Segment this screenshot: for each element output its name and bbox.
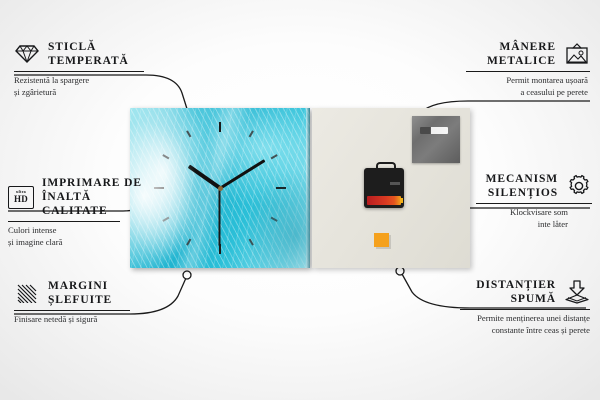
feature-head: MÂNEREMETALICE bbox=[440, 40, 590, 68]
feature-tempered-glass: STICLĂTEMPERATĂ Rezistentă la spargereși… bbox=[14, 40, 154, 98]
feature-title: MECANISMSILENȚIOS bbox=[486, 172, 558, 200]
feature-subtitle: Culori intenseși imagine clară bbox=[8, 225, 160, 248]
feature-subtitle: Rezistentă la spargereși zgârietură bbox=[14, 75, 154, 98]
feature-head: STICLĂTEMPERATĂ bbox=[14, 40, 154, 68]
feature-head: ultraHD IMPRIMARE DEÎNALTĂ CALITATE bbox=[8, 176, 160, 218]
hand-cap bbox=[218, 186, 223, 191]
feature-rule bbox=[466, 71, 590, 72]
feature-head: MARGINIȘLEFUITE bbox=[14, 279, 156, 307]
battery bbox=[367, 196, 401, 205]
connector-dot-spacer bbox=[396, 267, 404, 275]
feature-subtitle: Permite menținerea unei distanțeconstant… bbox=[434, 313, 590, 336]
feature-rule bbox=[14, 71, 144, 72]
feature-head: DISTANȚIERSPUMĂ bbox=[434, 278, 590, 306]
feature-title: IMPRIMARE DEÎNALTĂ CALITATE bbox=[42, 176, 160, 218]
feature-title: MARGINIȘLEFUITE bbox=[48, 279, 112, 307]
infographic-canvas: STICLĂTEMPERATĂ Rezistentă la spargereși… bbox=[0, 0, 600, 400]
feature-head: MECANISMSILENȚIOS bbox=[450, 172, 592, 200]
feature-rule bbox=[476, 203, 592, 204]
metal-hanger-plate bbox=[412, 116, 460, 163]
picture-hanger-icon bbox=[564, 42, 590, 66]
feature-subtitle: Permit montarea ușoarăa ceasului pe pere… bbox=[440, 75, 590, 98]
feature-high-quality-print: ultraHD IMPRIMARE DEÎNALTĂ CALITATE Culo… bbox=[8, 176, 160, 248]
press-pad-icon bbox=[564, 280, 590, 304]
gear-icon bbox=[566, 174, 592, 198]
feature-rule bbox=[460, 309, 590, 310]
feature-subtitle: Finisare netedă și sigură bbox=[14, 314, 156, 326]
feature-subtitle: Klockvisare sominte låter bbox=[450, 207, 592, 230]
foam-spacer-pad bbox=[374, 233, 389, 247]
quartz-movement bbox=[364, 168, 404, 208]
second-hand bbox=[219, 188, 221, 246]
feature-silent-mechanism: MECANISMSILENȚIOS Klockvisare sominte lå… bbox=[450, 172, 592, 230]
hatched-edge-icon bbox=[14, 281, 40, 305]
feature-title: DISTANȚIERSPUMĂ bbox=[476, 278, 556, 306]
movement-label bbox=[390, 182, 400, 185]
feature-polished-edges: MARGINIȘLEFUITE Finisare netedă și sigur… bbox=[14, 279, 156, 326]
hanger-slot bbox=[420, 127, 448, 134]
clock-back-panel bbox=[312, 108, 470, 268]
feature-metal-handles: MÂNEREMETALICE Permit montarea ușoarăa c… bbox=[440, 40, 590, 98]
feature-foam-spacer: DISTANȚIERSPUMĂ Permite menținerea unei … bbox=[434, 278, 590, 336]
glass-edge bbox=[306, 108, 310, 268]
ultra-hd-icon: ultraHD bbox=[8, 185, 34, 209]
minute-hand bbox=[219, 159, 265, 189]
diamond-icon bbox=[14, 42, 40, 66]
feature-title: STICLĂTEMPERATĂ bbox=[48, 40, 129, 68]
feature-title: MÂNEREMETALICE bbox=[487, 40, 556, 68]
movement-bail bbox=[376, 162, 396, 172]
feature-rule bbox=[14, 310, 130, 311]
feature-rule bbox=[8, 221, 120, 222]
product-photo bbox=[130, 108, 470, 268]
hour-hand bbox=[188, 165, 221, 190]
connector-dot-edges bbox=[183, 271, 191, 279]
